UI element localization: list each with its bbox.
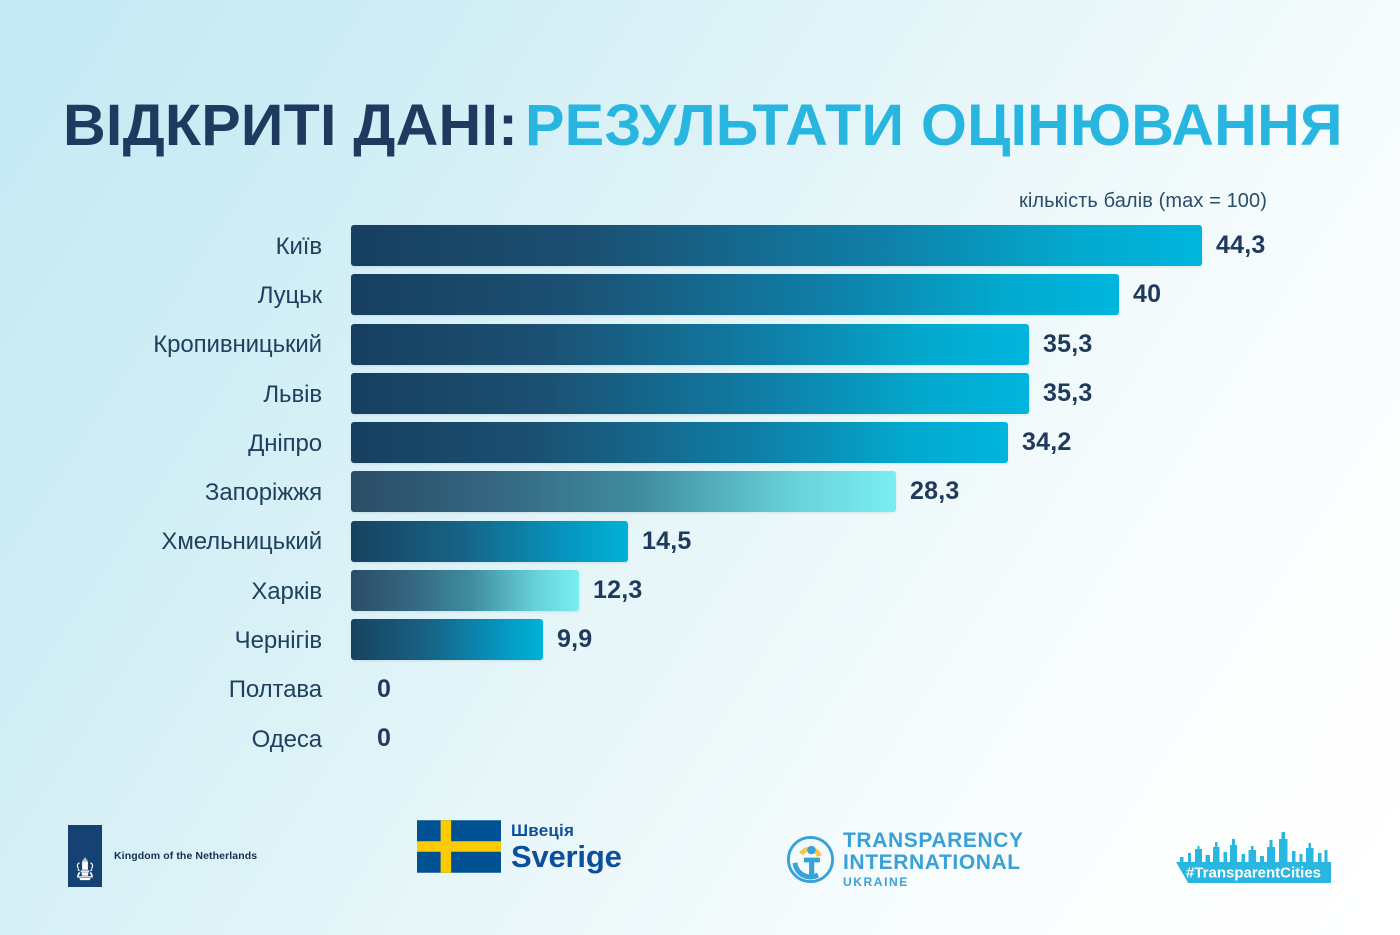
chart-row: Львів35,3 <box>0 370 1400 419</box>
bar-value-label: 0 <box>377 675 391 704</box>
chart-row: Харків12,3 <box>0 567 1400 616</box>
category-label: Запоріжжя <box>0 481 322 505</box>
bar-value-label: 28,3 <box>910 477 959 506</box>
bar-value-label: 40 <box>1133 280 1161 309</box>
bar <box>351 324 1029 365</box>
bar-value-label: 0 <box>377 724 391 753</box>
infographic-poster: ВІДКРИТІ ДАНІ: РЕЗУЛЬТАТИ ОЦІНЮВАННЯ кіл… <box>0 0 1400 935</box>
bar-wrapper: 40 <box>351 274 1161 315</box>
netherlands-blue-bar <box>68 825 102 887</box>
ti-line-2: INTERNATIONAL <box>843 852 1024 874</box>
sweden-text: Швеція Sverige <box>511 822 622 872</box>
bar <box>351 373 1029 414</box>
bar-value-label: 12,3 <box>593 576 642 605</box>
category-label: Харків <box>0 580 322 604</box>
transparency-international-mark-icon <box>787 836 834 883</box>
logo-transparency-international-ukraine: TRANSPARENCY INTERNATIONAL UKRAINE <box>787 830 1024 889</box>
chart-row: Одеса0 <box>0 715 1400 764</box>
ti-line-3: UKRAINE <box>843 876 1024 889</box>
logo-sweden: Швеція Sverige <box>417 820 622 873</box>
chart-row: Дніпро34,2 <box>0 419 1400 468</box>
sweden-label-uk: Швеція <box>511 822 622 839</box>
page-title-dark: ВІДКРИТІ ДАНІ: <box>63 92 518 159</box>
bar <box>351 619 543 660</box>
bar-wrapper: 9,9 <box>351 619 592 660</box>
chart-row: Чернігів9,9 <box>0 616 1400 665</box>
ti-line-1: TRANSPARENCY <box>843 830 1024 852</box>
transparent-cities-skyline-icon: #TransparentCities <box>1176 831 1331 883</box>
logo-transparent-cities: #TransparentCities <box>1176 831 1331 883</box>
bar-wrapper: 44,3 <box>351 225 1265 266</box>
chart-row: Кропивницький35,3 <box>0 321 1400 370</box>
category-label: Луцьк <box>0 284 322 308</box>
bar <box>351 422 1008 463</box>
transparency-international-text: TRANSPARENCY INTERNATIONAL UKRAINE <box>843 830 1024 889</box>
netherlands-coat-of-arms-icon <box>73 856 97 882</box>
bar-wrapper: 35,3 <box>351 373 1092 414</box>
bar <box>351 471 896 512</box>
bar-wrapper: 14,5 <box>351 521 691 562</box>
category-label: Київ <box>0 235 322 259</box>
bar-wrapper: 0 <box>377 718 391 759</box>
category-label: Кропивницький <box>0 333 322 357</box>
category-label: Хмельницький <box>0 530 322 554</box>
bar-wrapper: 28,3 <box>351 471 959 512</box>
transparent-cities-hashtag-text: #TransparentCities <box>1186 865 1321 882</box>
bar <box>351 521 628 562</box>
chart-row: Полтава0 <box>0 666 1400 715</box>
bar-value-label: 34,2 <box>1022 428 1071 457</box>
chart-row: Київ44,3 <box>0 222 1400 271</box>
bar-value-label: 44,3 <box>1216 231 1265 260</box>
logo-kingdom-of-netherlands: Kingdom of the Netherlands <box>68 825 257 887</box>
bar-value-label: 35,3 <box>1043 379 1092 408</box>
footer-logos: Kingdom of the Netherlands Швеція Sverig… <box>0 810 1400 920</box>
bar-chart: Київ44,3Луцьк40Кропивницький35,3Львів35,… <box>0 222 1400 762</box>
bar-value-label: 9,9 <box>557 625 592 654</box>
bar <box>351 570 579 611</box>
sweden-flag-icon <box>417 820 501 873</box>
netherlands-label: Kingdom of the Netherlands <box>114 850 257 862</box>
category-label: Львів <box>0 383 322 407</box>
category-label: Чернігів <box>0 629 322 653</box>
category-label: Дніпро <box>0 432 322 456</box>
chart-row: Запоріжжя28,3 <box>0 468 1400 517</box>
category-label: Полтава <box>0 678 322 702</box>
page-title-accent: РЕЗУЛЬТАТИ ОЦІНЮВАННЯ <box>525 92 1343 159</box>
bar-wrapper: 34,2 <box>351 422 1071 463</box>
chart-row: Луцьк40 <box>0 271 1400 320</box>
bar <box>351 225 1202 266</box>
bar-wrapper: 35,3 <box>351 324 1092 365</box>
chart-row: Хмельницький14,5 <box>0 518 1400 567</box>
page-title: ВІДКРИТІ ДАНІ: РЕЗУЛЬТАТИ ОЦІНЮВАННЯ <box>63 92 1353 154</box>
bar-wrapper: 0 <box>377 669 391 710</box>
bar <box>351 274 1119 315</box>
bar-value-label: 35,3 <box>1043 330 1092 359</box>
bar-wrapper: 12,3 <box>351 570 642 611</box>
category-label: Одеса <box>0 728 322 752</box>
axis-caption: кількість балів (max = 100) <box>1019 190 1267 213</box>
bar-value-label: 14,5 <box>642 527 691 556</box>
sweden-label-sv: Sverige <box>511 841 622 872</box>
